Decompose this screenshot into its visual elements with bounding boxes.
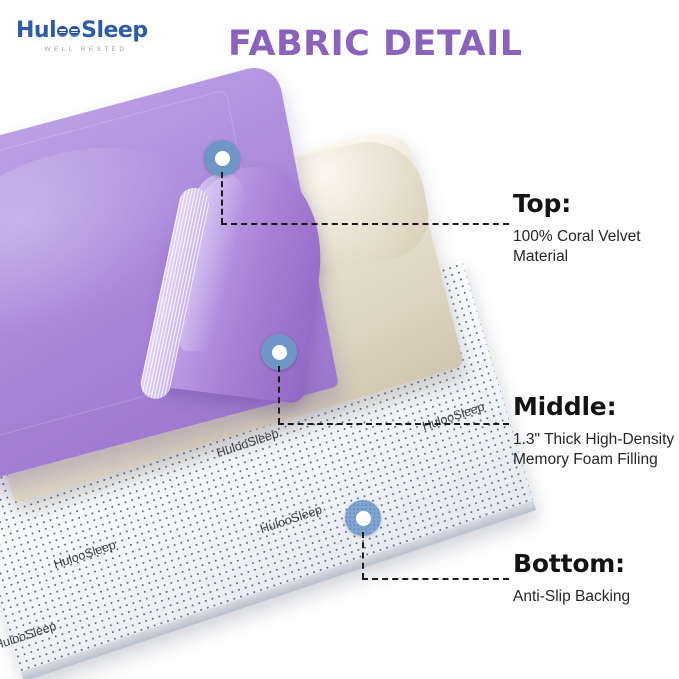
watermark-text: HulooSleep [0,619,58,653]
callout-heading-top: Top: [513,190,679,218]
brand-logo: Hul Sleep WELL RESTED [16,20,166,60]
callout-heading-bottom: Bottom: [513,550,679,578]
callout-text-middle: Middle: 1.3" Thick High-Density Memory F… [513,393,679,470]
callout-description-top: 100% Coral Velvet Material [513,227,679,268]
callout-text-top: Top: 100% Coral Velvet Material [513,190,679,267]
infographic-page: Hul Sleep WELL RESTED FABRIC DETAIL Hulo… [0,0,679,679]
sleeping-eyes-icon [57,26,80,37]
leader-line-top-horizontal [221,223,509,225]
leader-line-middle-vertical [278,366,280,424]
callout-description-bottom: Anti-Slip Backing [513,587,679,607]
callout-heading-middle: Middle: [513,393,679,421]
callout-marker-middle[interactable] [261,334,297,370]
brand-name-part2: Sleep [81,20,147,42]
brand-name: Hul Sleep [16,20,166,42]
callout-marker-bottom[interactable] [345,500,381,536]
leader-line-bottom-vertical [362,532,364,579]
callout-text-bottom: Bottom: Anti-Slip Backing [513,550,679,607]
leader-line-top-vertical [221,172,223,224]
page-title: FABRIC DETAIL [228,24,523,64]
watermark-text: HulooSleep [52,538,117,572]
leader-line-bottom-horizontal [362,578,509,580]
leader-line-middle-horizontal [278,423,509,425]
brand-name-part1: Hul [16,20,56,42]
watermark-text: HulooSleep [421,400,486,434]
callout-marker-top[interactable] [204,140,240,176]
watermark-text: HulooSleep [258,502,323,536]
callout-description-middle: 1.3" Thick High-Density Memory Foam Fill… [513,430,679,471]
brand-tagline: WELL RESTED [16,46,156,53]
